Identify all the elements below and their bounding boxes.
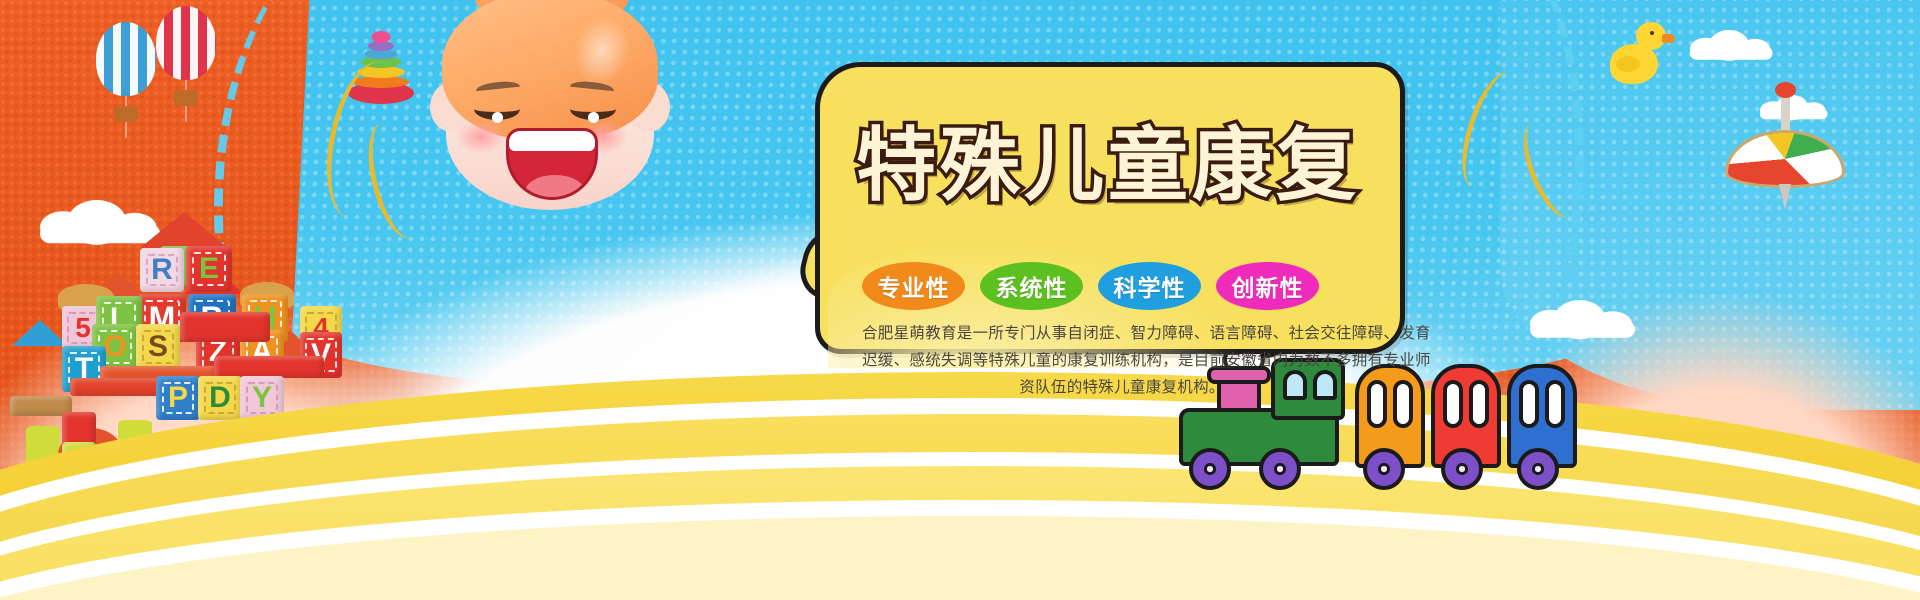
block-roof-red (140, 212, 228, 248)
promotional-banner: R E M B H 5 L O S T (0, 0, 1920, 600)
feature-badge-list: 专业性 系统性 科学性 创新性 (862, 262, 1319, 310)
page-title: 特殊儿童康复 (856, 126, 1386, 206)
block-beam-red-2 (214, 356, 324, 378)
spinning-top-toy (1725, 100, 1845, 210)
cheek-left (456, 120, 506, 154)
badge-systematic[interactable]: 系统性 (980, 262, 1083, 310)
letter-block: E (186, 246, 232, 292)
eye-sparkle-right (588, 112, 599, 123)
train-wheel (1363, 448, 1405, 490)
description-line-2: 迟缓、感统失调等特殊儿童的康复训练机构，是目前安徽省内为数不多拥有专业师 (862, 347, 1382, 374)
smiling-girl-illustration (420, 0, 680, 216)
badge-professional[interactable]: 专业性 (862, 262, 965, 310)
train-wheel (1517, 448, 1559, 490)
train-wheel (1259, 448, 1301, 490)
train-wheel (1441, 448, 1483, 490)
letter-block: R (140, 248, 184, 292)
description-paragraph: 合肥星萌教育是一所专门从事自闭症、智力障碍、语言障碍、社会交往障碍、发育 迟缓、… (862, 320, 1382, 401)
balloon-basket (114, 106, 138, 122)
description-line-1: 合肥星萌教育是一所专门从事自闭症、智力障碍、语言障碍、社会交往障碍、发育 (862, 320, 1382, 347)
letter-block: P (156, 376, 200, 420)
letter-block: D (198, 376, 242, 420)
girl-hair (442, 0, 658, 140)
letter-block: S (136, 324, 180, 370)
description-line-3: 资队伍的特殊儿童康复机构。 (862, 374, 1382, 401)
badge-innovative[interactable]: 创新性 (1216, 262, 1319, 310)
badge-scientific[interactable]: 科学性 (1098, 262, 1201, 310)
eye-sparkle-left (492, 112, 503, 123)
block-roof-blue (12, 320, 68, 346)
balloon-basket (174, 90, 198, 106)
block-beam-red (180, 312, 270, 342)
train-wheel (1189, 448, 1231, 490)
